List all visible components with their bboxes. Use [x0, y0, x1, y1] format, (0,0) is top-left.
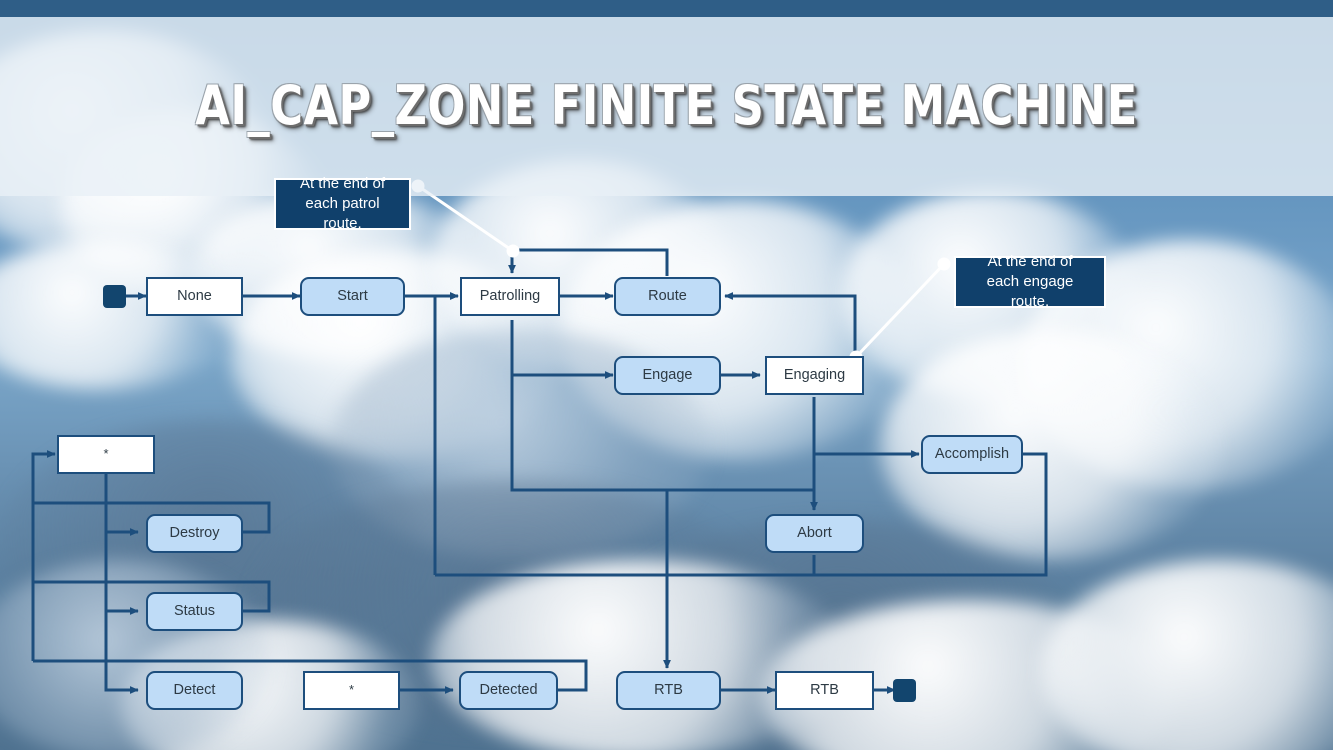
callout-line-2: each patrol route.	[286, 194, 399, 234]
state-node-patrolling[interactable]: Patrolling	[460, 277, 560, 316]
top-accent-bar	[0, 0, 1333, 17]
state-label: *	[103, 447, 108, 461]
slide-canvas: AI_CAP_ZONE FINITE STATE MACHINE None St…	[0, 0, 1333, 750]
state-label: Status	[174, 604, 215, 620]
state-label: RTB	[810, 683, 839, 699]
state-node-detected[interactable]: Detected	[459, 671, 558, 710]
state-label: RTB	[654, 683, 683, 699]
callout-line-2: each engage route.	[966, 272, 1094, 312]
state-node-rtb-blue[interactable]: RTB	[616, 671, 721, 710]
callout-patrol-note: At the end of each patrol route.	[274, 178, 411, 230]
state-label: Route	[648, 289, 687, 305]
state-node-status[interactable]: Status	[146, 592, 243, 631]
state-node-rtb-white[interactable]: RTB	[775, 671, 874, 710]
page-title: AI_CAP_ZONE FINITE STATE MACHINE	[53, 74, 1279, 137]
state-node-engaging[interactable]: Engaging	[765, 356, 864, 395]
state-node-accomplish[interactable]: Accomplish	[921, 435, 1023, 474]
callout-engage-note: At the end of each engage route.	[954, 256, 1106, 308]
state-label: Engage	[643, 368, 693, 384]
state-label: Patrolling	[480, 289, 540, 305]
state-label: Abort	[797, 526, 832, 542]
state-node-engage[interactable]: Engage	[614, 356, 721, 395]
callout-line-1: At the end of	[300, 174, 385, 194]
state-node-abort[interactable]: Abort	[765, 514, 864, 553]
initial-state-marker	[103, 285, 126, 308]
state-label: None	[177, 289, 212, 305]
final-state-marker	[893, 679, 916, 702]
state-label: Detected	[479, 683, 537, 699]
state-node-star-bottom[interactable]: *	[303, 671, 400, 710]
state-node-star-left[interactable]: *	[57, 435, 155, 474]
state-node-route[interactable]: Route	[614, 277, 721, 316]
state-label: Detect	[174, 683, 216, 699]
state-node-none[interactable]: None	[146, 277, 243, 316]
callout-line-1: At the end of	[987, 252, 1072, 272]
state-label: Engaging	[784, 368, 845, 384]
state-label: Destroy	[170, 526, 220, 542]
state-label: *	[349, 683, 354, 697]
state-node-detect[interactable]: Detect	[146, 671, 243, 710]
state-node-start[interactable]: Start	[300, 277, 405, 316]
state-node-destroy[interactable]: Destroy	[146, 514, 243, 553]
state-label: Start	[337, 289, 368, 305]
state-label: Accomplish	[935, 447, 1009, 463]
